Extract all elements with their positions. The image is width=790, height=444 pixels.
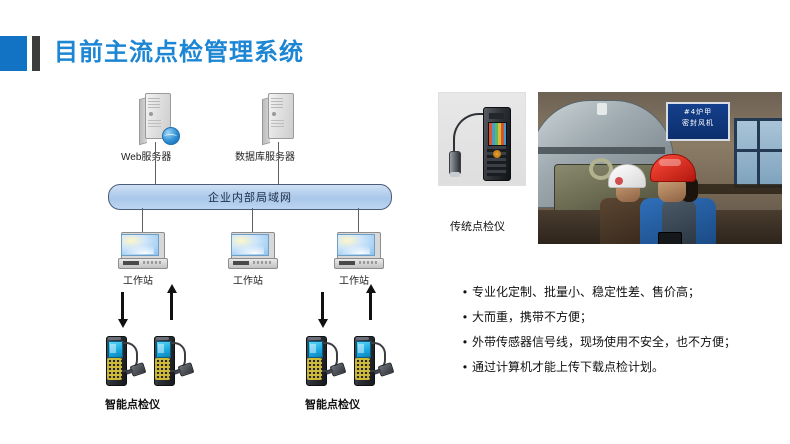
server-vent <box>271 98 283 108</box>
traditional-handheld-device <box>483 107 511 181</box>
download-arrow-icon <box>121 292 124 320</box>
keyboard-keys <box>253 261 271 264</box>
handheld-inspector-icon <box>352 336 378 384</box>
slide-canvas: 目前主流点检管理系统 Web服务器 数据库服务器 企业内部局域网 <box>0 0 790 444</box>
lan-to-workstation-line <box>252 208 253 232</box>
traditional-device-caption: 传统点检仪 <box>450 218 505 234</box>
sensor-probe-icon <box>330 362 347 377</box>
handheld-top-bar <box>308 337 321 340</box>
sensor-probe-icon <box>449 151 461 175</box>
handheld-screen <box>356 341 371 358</box>
monitor-screen <box>337 234 375 256</box>
factory-window <box>734 118 782 188</box>
sensor-probe-icon <box>130 362 147 377</box>
bullet-marker: • <box>458 359 472 376</box>
held-device <box>658 232 682 244</box>
handheld-inspector-icon <box>304 336 330 384</box>
handheld-screen <box>156 341 171 358</box>
server-led <box>272 112 276 116</box>
title-accent-square <box>0 36 27 71</box>
list-item: • 专业化定制、批量小、稳定性差、售价高； <box>458 284 778 301</box>
lan-to-workstation-line <box>358 208 359 232</box>
workstation-label: 工作站 <box>123 272 153 287</box>
handheld-top-bar <box>156 337 169 340</box>
server-vent <box>148 98 160 108</box>
device-header <box>489 113 504 119</box>
bullet-text: 外带传感器信号线，现场使用不安全，也不方便； <box>472 334 736 351</box>
globe-icon <box>162 127 180 145</box>
handheld-keypad <box>307 358 322 380</box>
title-accent-bar <box>32 36 40 71</box>
bullet-text: 专业化定制、批量小、稳定性差、售价高； <box>472 284 700 301</box>
list-item: • 外带传感器信号线，现场使用不安全，也不方便； <box>458 334 778 351</box>
download-arrow-icon <box>321 292 324 320</box>
handheld-top-bar <box>356 337 369 340</box>
handheld-screen <box>308 341 323 358</box>
list-item: • 通过计算机才能上传下载点检计划。 <box>458 359 778 376</box>
workstation-icon <box>334 232 382 268</box>
sensor-probe-icon <box>378 362 395 377</box>
device-keypad <box>487 146 506 176</box>
bullet-text: 通过计算机才能上传下载点检计划。 <box>472 359 664 376</box>
bullet-marker: • <box>458 309 472 326</box>
web-server-icon <box>139 93 173 141</box>
server-led <box>149 112 153 116</box>
database-server-link-line <box>278 142 279 184</box>
sign-line-1: #4炉甲 <box>668 107 728 118</box>
keyboard-icon <box>339 261 355 265</box>
handheld-keypad <box>355 358 370 380</box>
database-server-label: 数据库服务器 <box>235 148 295 163</box>
bullet-marker: • <box>458 284 472 301</box>
lan-bar: 企业内部局域网 <box>108 184 392 210</box>
sensor-probe-icon <box>178 362 195 377</box>
sign-line-2: 密封风机 <box>668 118 728 129</box>
bullet-text: 大而重，携带不方便； <box>472 309 592 326</box>
handheld-inspector-icon <box>152 336 178 384</box>
workstation-icon <box>228 232 276 268</box>
worksite-photo: #4炉甲 密封风机 <box>538 92 782 244</box>
page-title: 目前主流点检管理系统 <box>54 41 304 65</box>
slide-title-bar: 目前主流点检管理系统 <box>0 34 304 72</box>
workstation-label: 工作站 <box>339 272 369 287</box>
workstation-icon <box>118 232 166 268</box>
monitor-screen <box>121 234 159 256</box>
keyboard-keys <box>359 261 377 264</box>
handheld-keypad <box>107 358 122 380</box>
handheld-keypad <box>155 358 170 380</box>
upload-arrow-icon <box>369 292 372 320</box>
traditional-device-photo <box>438 92 526 186</box>
server-vent-lower <box>148 120 161 128</box>
keyboard-keys <box>143 261 161 264</box>
network-diagram: Web服务器 数据库服务器 企业内部局域网 工作站 <box>0 80 430 444</box>
handheld-top-bar <box>108 337 121 340</box>
lan-to-workstation-line <box>142 208 143 232</box>
list-item: • 大而重，携带不方便； <box>458 309 778 326</box>
handheld-screen <box>108 341 123 358</box>
drum-band <box>538 147 665 154</box>
device-screen <box>488 122 507 146</box>
server-vent-lower <box>271 120 284 128</box>
database-server-icon <box>262 93 296 141</box>
web-server-link-line <box>155 142 156 184</box>
web-server-label: Web服务器 <box>121 148 171 163</box>
drawback-bullet-list: • 专业化定制、批量小、稳定性差、售价高； • 大而重，携带不方便； • 外带传… <box>458 284 778 384</box>
monitor-screen <box>231 234 269 256</box>
drum-fitting <box>597 103 607 115</box>
equipment-sign: #4炉甲 密封风机 <box>666 102 730 141</box>
bullet-marker: • <box>458 334 472 351</box>
keyboard-icon <box>233 261 249 265</box>
handheld-group-label: 智能点检仪 <box>105 396 160 412</box>
handheld-inspector-icon <box>104 336 130 384</box>
keyboard-icon <box>123 261 139 265</box>
workstation-label: 工作站 <box>233 272 263 287</box>
upload-arrow-icon <box>170 292 173 320</box>
handheld-group-label: 智能点检仪 <box>305 396 360 412</box>
